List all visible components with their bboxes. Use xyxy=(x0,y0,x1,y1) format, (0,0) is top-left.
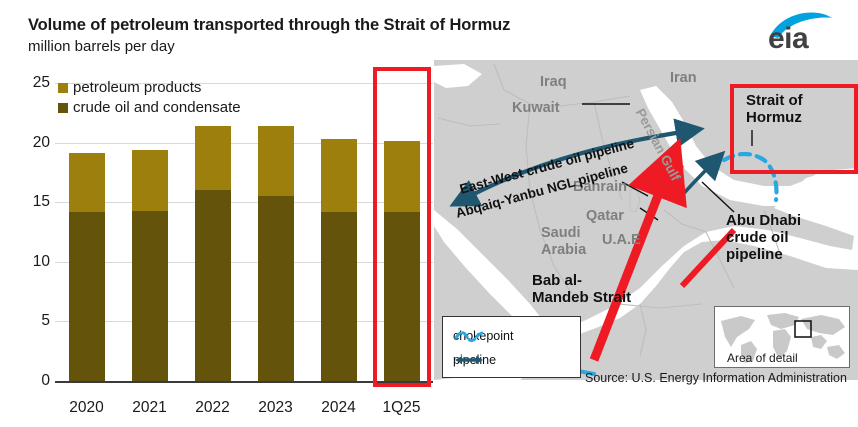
area-of-detail-inset: Area of detail xyxy=(714,306,850,368)
gridline-15 xyxy=(55,202,433,203)
bar-segment-products-2022[interactable] xyxy=(195,126,231,190)
x-axis-label-2023: 2023 xyxy=(244,399,307,417)
infographic-root: Volume of petroleum transported through … xyxy=(0,0,858,427)
legend-label-crude-oil: crude oil and condensate xyxy=(73,98,241,118)
pipeline-double-arrow-icon xyxy=(453,353,485,367)
bar-segment-crude-2020[interactable] xyxy=(69,212,105,381)
page-title: Volume of petroleum transported through … xyxy=(28,16,510,35)
chart-legend: petroleum products crude oil and condens… xyxy=(58,78,241,118)
bar-2022[interactable] xyxy=(195,126,231,381)
map-callout-abu-dhabi-crude-oil-pipeline: Abu Dhabi crude oil pipeline xyxy=(726,212,801,263)
bar-2021[interactable] xyxy=(132,150,168,381)
bar-1Q25[interactable] xyxy=(384,141,420,381)
y-tick-label-0: 0 xyxy=(4,372,50,390)
map-label-kuwait: Kuwait xyxy=(512,100,560,117)
legend-label-petroleum-products: petroleum products xyxy=(73,78,201,98)
y-tick-label-15: 15 xyxy=(4,193,50,211)
x-axis-label-2022: 2022 xyxy=(181,399,244,417)
map-callout-strait-of-hormuz: Strait of Hormuz xyxy=(746,92,803,126)
bar-segment-products-2024[interactable] xyxy=(321,139,357,212)
legend-swatch-petroleum-products xyxy=(58,83,68,93)
y-tick-label-25: 25 xyxy=(4,74,50,92)
gridline-20 xyxy=(55,143,433,144)
stacked-bar-chart: 25 20 15 10 5 0 petroleum products crude… xyxy=(0,60,432,427)
svg-text:eia: eia xyxy=(768,22,809,54)
y-tick-label-5: 5 xyxy=(4,312,50,330)
chokepoint-dashed-line-icon xyxy=(453,329,485,343)
bar-2024[interactable] xyxy=(321,139,357,381)
x-axis-label-2024: 2024 xyxy=(307,399,370,417)
x-axis-label-2021: 2021 xyxy=(118,399,181,417)
legend-item-crude-oil: crude oil and condensate xyxy=(58,98,241,118)
map-label-qatar: Qatar xyxy=(586,208,624,225)
bar-segment-products-2020[interactable] xyxy=(69,153,105,211)
bar-2020[interactable] xyxy=(69,153,105,381)
y-tick-label-10: 10 xyxy=(4,253,50,271)
map-label-iraq: Iraq xyxy=(540,74,567,91)
inset-label: Area of detail xyxy=(727,351,798,365)
x-axis-label-2020: 2020 xyxy=(55,399,118,417)
x-axis-label-1Q25: 1Q25 xyxy=(370,399,433,417)
legend-swatch-crude-oil xyxy=(58,103,68,113)
bar-segment-crude-1Q25[interactable] xyxy=(384,212,420,381)
map-legend-item-pipeline: pipeline xyxy=(453,353,496,367)
legend-item-petroleum-products: petroleum products xyxy=(58,78,241,98)
bar-2023[interactable] xyxy=(258,126,294,381)
map-legend: chokepoint pipeline xyxy=(442,316,581,378)
eia-logo-icon: eia xyxy=(752,8,840,54)
bar-segment-crude-2024[interactable] xyxy=(321,212,357,381)
gridline-5 xyxy=(55,321,433,322)
map-label-iran: Iran xyxy=(670,70,697,87)
map-legend-item-chokepoint: chokepoint xyxy=(453,329,513,343)
map-callout-bab-al-mandeb-strait: Bab al- Mandeb Strait xyxy=(532,272,631,306)
bar-segment-crude-2023[interactable] xyxy=(258,196,294,381)
bar-segment-products-1Q25[interactable] xyxy=(384,141,420,211)
bar-segment-crude-2021[interactable] xyxy=(132,211,168,381)
map-label-uae: U.A.E xyxy=(602,232,641,249)
gridline-10 xyxy=(55,262,433,263)
bar-segment-products-2021[interactable] xyxy=(132,150,168,211)
y-tick-label-20: 20 xyxy=(4,134,50,152)
bar-segment-products-2023[interactable] xyxy=(258,126,294,196)
region-map: Iraq Iran Kuwait Bahrain Qatar U.A.E Sau… xyxy=(434,60,858,390)
chart-units-subtitle: million barrels per day xyxy=(28,38,175,55)
x-axis-line xyxy=(55,381,433,383)
map-label-saudi-arabia: Saudi Arabia xyxy=(541,225,586,259)
source-attribution: Source: U.S. Energy Information Administ… xyxy=(585,371,847,385)
bar-segment-crude-2022[interactable] xyxy=(195,190,231,381)
